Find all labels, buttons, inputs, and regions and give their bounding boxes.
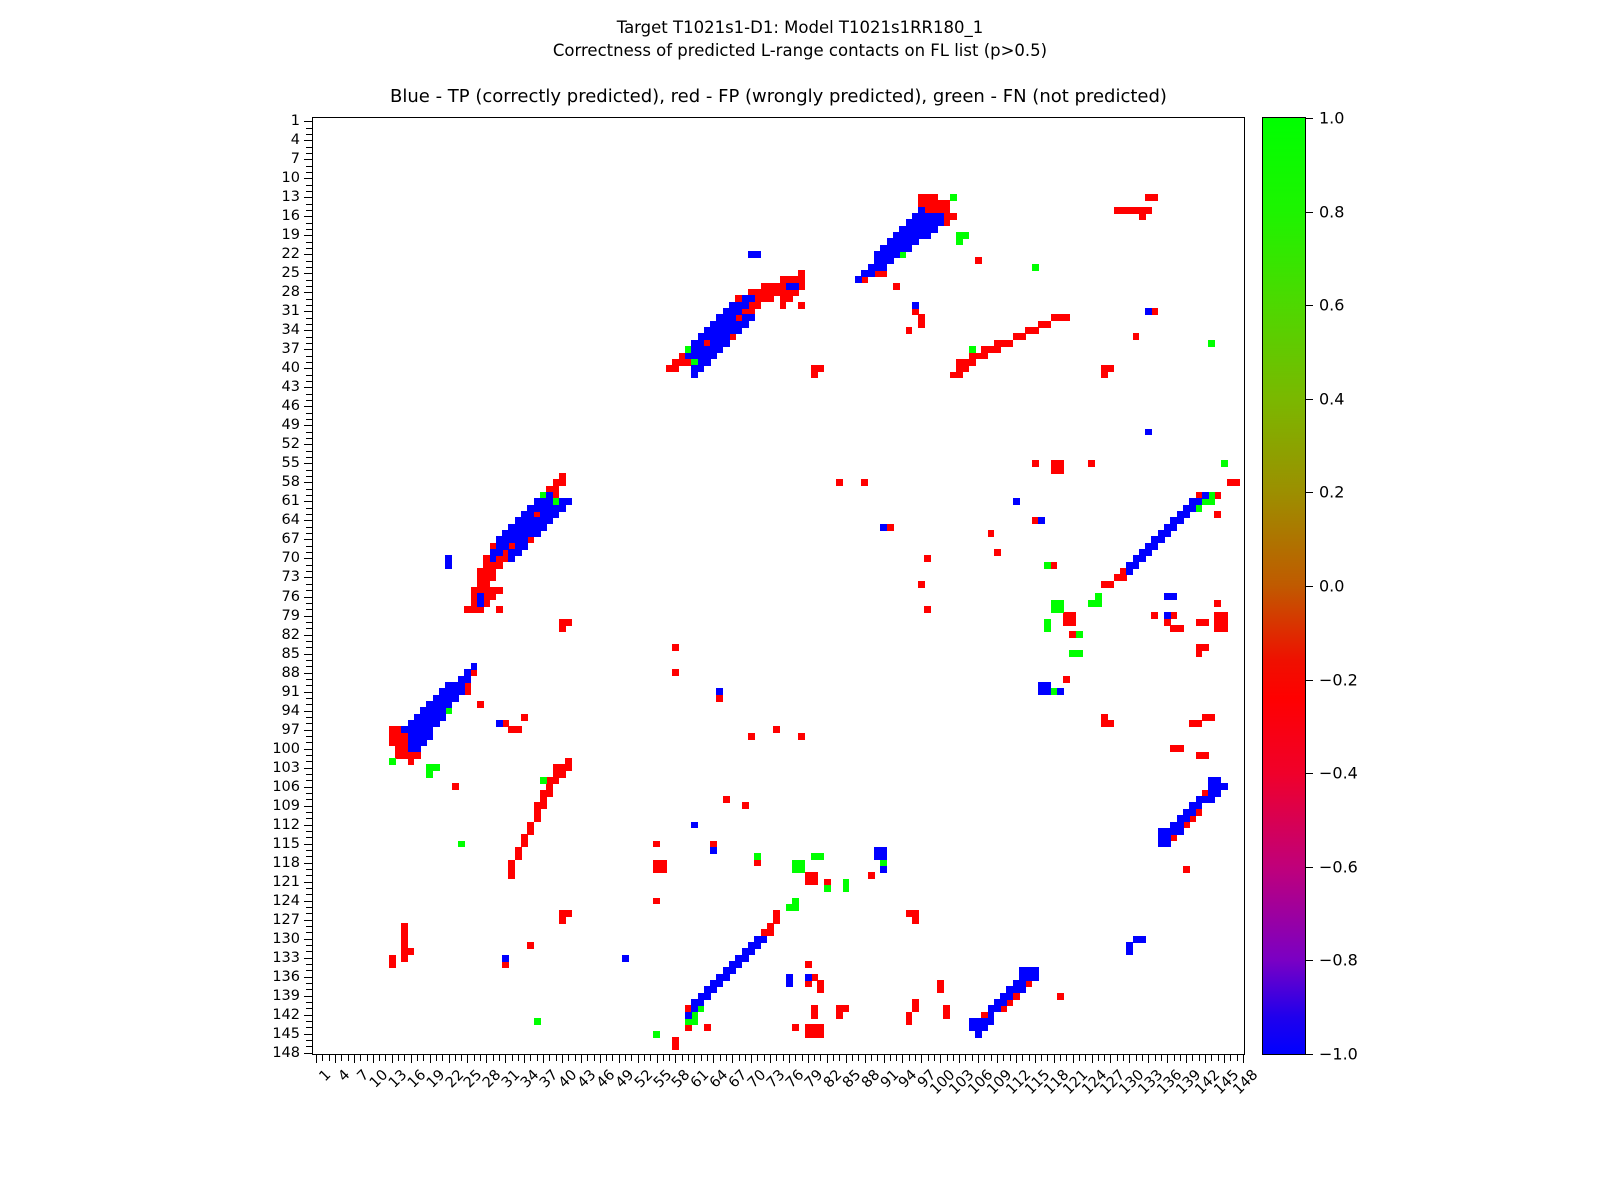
contact-cell-fp [1151,612,1158,619]
x-tick [329,1054,330,1061]
contact-cell-fn [792,904,799,911]
y-tick [306,799,313,800]
contact-cell-fn [445,707,452,714]
contact-cell-fp [559,625,566,632]
x-tick [997,1054,998,1063]
x-tick [606,1054,607,1061]
y-tick-label: 103 [272,760,300,776]
contact-cell-fp [408,948,415,955]
x-tick [1085,1054,1086,1061]
contact-cell-fp [672,1043,679,1050]
y-tick-label: 16 [282,208,300,224]
y-tick [306,1027,313,1028]
x-tick [720,1054,721,1061]
contact-cell-fp [817,365,824,372]
y-tick [306,381,313,382]
y-tick-label: 121 [272,874,300,890]
contact-cell-fp [880,270,887,277]
y-tick [306,248,313,249]
x-tick [449,1054,450,1063]
contact-cell-tp [1139,936,1146,943]
contact-cell-fp [508,872,515,879]
x-tick [1104,1054,1105,1061]
x-tick [947,1054,948,1061]
contact-cell-fp [1088,460,1095,467]
x-tick [543,1054,544,1063]
colorbar-tick-label: 0.4 [1319,389,1344,408]
y-tick [304,749,313,750]
y-tick-label: 148 [272,1045,300,1061]
contact-cell-fp [477,606,484,613]
y-tick [306,894,313,895]
contact-cell-tp [748,295,755,302]
contact-cell-tp [754,251,761,258]
contact-cell-fp [792,289,799,296]
y-tick [304,425,313,426]
contact-cell-fp [565,619,572,626]
contact-cell-fp [861,479,868,486]
contact-cell-tp [433,720,440,727]
contact-cell-tp [1170,828,1177,835]
contact-cell-fp [868,872,875,879]
contact-cell-fp [672,669,679,676]
contact-cell-tp [1189,809,1196,816]
contact-cell-fp [490,568,497,575]
contact-cell-tp [1126,568,1133,575]
y-tick [304,920,313,921]
y-tick [304,520,313,521]
x-tick [783,1054,784,1061]
contact-cell-fp [464,688,471,695]
y-tick [306,964,313,965]
x-tick [1237,1054,1238,1061]
contact-cell-tp [1196,498,1203,505]
y-tick [306,945,313,946]
y-tick [304,178,313,179]
contact-cell-tp [742,321,749,328]
contact-cell-fp [723,796,730,803]
x-tick [404,1054,405,1061]
y-tick [306,229,313,230]
x-tick [1192,1054,1193,1061]
contact-cell-fp [1214,600,1221,607]
contact-cell-fp [962,365,969,372]
contact-cell-tp [490,555,497,562]
x-tick [852,1054,853,1061]
y-tick [304,958,313,959]
contact-cell-fp [1019,333,1026,340]
y-tick-label: 70 [282,550,300,566]
contact-cell-fp [792,1024,799,1031]
y-tick [306,698,313,699]
contact-cell-fp [565,910,572,917]
contact-cell-tp [477,600,484,607]
y-tick-label: 67 [282,531,300,547]
colorbar-tick-label: −0.8 [1319,951,1358,970]
contact-cell-fp [389,961,396,968]
y-tick [306,451,313,452]
contact-cell-fp [1101,372,1108,379]
y-tick [306,970,313,971]
contact-cell-tp [1145,549,1152,556]
x-tick [556,1054,557,1061]
contact-cell-fp [1006,340,1013,347]
y-tick-label: 94 [282,703,300,719]
y-tick [304,711,313,712]
contact-cell-tp [426,733,433,740]
y-tick [304,996,313,997]
contact-cell-fp [502,961,509,968]
y-tick-label: 79 [282,608,300,624]
contact-cell-tp [1164,841,1171,848]
contact-cell-fn [1044,625,1051,632]
contact-cell-fp [836,1012,843,1019]
y-tick [304,501,313,502]
y-tick [304,463,313,464]
contact-cell-tp [880,866,887,873]
y-tick [306,1040,313,1041]
x-tick [341,1054,342,1061]
x-tick [890,1054,891,1061]
y-tick [306,888,313,889]
contact-cell-fp [943,1012,950,1019]
y-tick-label: 97 [282,722,300,738]
contact-cell-fn [1057,606,1064,613]
contact-cell-fp [773,917,780,924]
contact-cell-fp [811,372,818,379]
x-tick [1167,1054,1168,1063]
colorbar-tick [1305,305,1313,306]
y-tick [304,1034,313,1035]
y-tick-label: 46 [282,398,300,414]
x-tick [808,1054,809,1063]
x-tick [1123,1054,1124,1061]
contact-cell-tp [1202,796,1209,803]
contact-cell-tp [502,955,509,962]
x-tick [1186,1054,1187,1063]
contact-cell-tp [723,340,730,347]
contact-cell-fp [685,1024,692,1031]
y-tick [304,597,313,598]
contact-cell-fp [1139,213,1146,220]
contact-cell-fp [471,669,478,676]
x-tick [814,1054,815,1061]
x-tick [530,1054,531,1061]
contact-cell-fp [660,866,667,873]
contact-cell-fn [956,238,963,245]
contact-cell-tp [515,549,522,556]
contact-cell-fp [1214,492,1221,499]
y-tick [306,761,313,762]
contact-cell-tp [1170,593,1177,600]
contact-cell-fp [540,802,547,809]
contact-cell-fp [1183,822,1190,829]
y-tick [306,394,313,395]
contact-cell-tp [855,276,862,283]
x-tick [921,1054,922,1063]
contact-cell-tp [1019,980,1026,987]
contact-cell-fp [754,302,761,309]
x-tick [335,1054,336,1063]
contact-cell-fp [521,714,528,721]
colorbar-tick [1305,960,1313,961]
contact-cell-tp [540,524,547,531]
y-tick-label: 28 [282,284,300,300]
contact-cell-fn [754,853,761,860]
y-tick [304,692,313,693]
contact-cell-fp [1057,467,1064,474]
contact-cell-fp [729,333,736,340]
y-tick [306,343,313,344]
y-tick-label: 61 [282,493,300,509]
contact-cell-fn [534,1018,541,1025]
x-tick [423,1054,424,1061]
contact-cell-fp [1120,574,1127,581]
x-tick [928,1054,929,1061]
contact-cell-tp [1177,828,1184,835]
x-tick [902,1054,903,1063]
contact-cell-fp [565,764,572,771]
y-tick-label: 136 [272,969,300,985]
colorbar-tick-label: 0.2 [1319,483,1344,502]
y-tick [304,977,313,978]
contact-cell-tp [426,714,433,721]
x-tick [959,1054,960,1063]
y-tick-label: 76 [282,589,300,605]
y-tick-label: 19 [282,227,300,243]
x-tick [360,1054,361,1061]
contact-cell-tp [704,359,711,366]
y-tick [306,818,313,819]
y-tick [306,223,313,224]
contact-cell-tp [710,847,717,854]
x-tick [940,1054,941,1063]
x-tick [1079,1054,1080,1061]
contact-cell-tp [931,219,938,226]
y-tick [306,438,313,439]
contact-cell-tp [445,701,452,708]
colorbar-tick [1305,399,1313,400]
y-tick [306,647,313,648]
contact-cell-tp [1164,530,1171,537]
x-tick [833,1054,834,1061]
contact-map-plot[interactable]: 1471013161922252831343740434649525558616… [312,117,1245,1055]
contact-cell-tp [439,714,446,721]
y-tick [306,318,313,319]
y-tick [306,622,313,623]
contact-cell-fn [1208,340,1215,347]
x-tick [978,1054,979,1063]
y-tick [306,128,313,129]
y-tick [304,654,313,655]
contact-cell-fp [786,295,793,302]
x-tick [619,1054,620,1063]
contact-cell-fp [1044,321,1051,328]
y-tick [306,812,313,813]
contact-cell-fn [962,232,969,239]
y-tick-label: 133 [272,950,300,966]
y-tick [306,299,313,300]
contact-cell-tp [1208,796,1215,803]
colorbar-tick-label: 1.0 [1319,109,1344,128]
y-tick-label: 4 [291,132,300,148]
contact-cell-fn [1076,650,1083,657]
contact-cell-tp [906,245,913,252]
contact-cell-fp [559,917,566,924]
x-tick [770,1054,771,1063]
contact-cell-fp [893,283,900,290]
contact-cell-tp [414,745,421,752]
y-tick [306,793,313,794]
contact-cell-tp [445,562,452,569]
contact-cell-tp [546,517,553,524]
contact-cell-fp [1151,308,1158,315]
contact-cell-tp [464,676,471,683]
contact-cell-fp [527,942,534,949]
contact-cell-tp [1139,555,1146,562]
y-tick [306,1008,313,1009]
contact-cell-tp [521,543,528,550]
contact-cell-tp [748,948,755,955]
contact-cell-fp [912,917,919,924]
contact-cell-fp [483,600,490,607]
y-tick [304,273,313,274]
contact-cell-fp [1202,752,1209,759]
contact-cell-fp [515,853,522,860]
contact-cell-fp [956,372,963,379]
y-tick-label: 124 [272,893,300,909]
y-tick [306,679,313,680]
y-tick [304,730,313,731]
y-tick [306,400,313,401]
colorbar-tick-label: 0.6 [1319,296,1344,315]
colorbar-tick [1305,212,1313,213]
y-tick [306,261,313,262]
contact-cell-fp [408,758,415,765]
x-tick [896,1054,897,1061]
y-tick-label: 55 [282,455,300,471]
contact-cell-fp [1145,207,1152,214]
y-tick [306,584,313,585]
contact-cell-tp [433,707,440,714]
contact-cell-fp [843,1005,850,1012]
x-tick [953,1054,954,1061]
contact-cell-tp [445,695,452,702]
contact-cell-fp [1107,581,1114,588]
y-tick [306,546,313,547]
x-tick [1218,1054,1219,1061]
contact-cell-fp [1069,619,1076,626]
x-tick [348,1054,349,1061]
contact-cell-fn [389,758,396,765]
x-tick [694,1054,695,1063]
contact-cell-fp [1208,714,1215,721]
contact-cell-tp [735,961,742,968]
x-tick [398,1054,399,1061]
contact-cell-tp [931,226,938,233]
x-tick [631,1054,632,1061]
x-tick [972,1054,973,1061]
y-tick-label: 25 [282,265,300,281]
y-tick-label: 49 [282,417,300,433]
contact-cell-tp [496,549,503,556]
y-tick [306,704,313,705]
x-tick [385,1054,386,1061]
contact-cell-tp [1170,524,1177,531]
x-tick [486,1054,487,1063]
colorbar-tick [1305,680,1313,681]
y-tick-label: 145 [272,1026,300,1042]
contact-cell-fp [534,815,541,822]
y-tick [306,508,313,509]
contact-cell-fp [761,295,768,302]
contact-cell-tp [710,986,717,993]
contact-cell-fp [653,898,660,905]
x-tick [802,1054,803,1061]
y-tick [306,533,313,534]
x-tick [827,1054,828,1063]
y-tick [304,368,313,369]
y-tick [306,1021,313,1022]
x-tick [505,1054,506,1063]
y-tick-label: 40 [282,360,300,376]
y-tick-label: 115 [272,836,300,852]
x-tick [379,1054,380,1061]
contact-cell-tp [420,739,427,746]
y-tick [306,413,313,414]
contact-cell-fp [924,606,931,613]
y-tick [306,495,313,496]
y-tick [304,825,313,826]
x-tick [820,1054,821,1061]
contact-cell-tp [1183,511,1190,518]
contact-cell-fp [1196,650,1203,657]
x-tick [1060,1054,1061,1061]
y-tick-label: 13 [282,189,300,205]
colorbar-tick-label: −0.6 [1319,857,1358,876]
contact-cell-fp [559,771,566,778]
x-tick [1054,1054,1055,1063]
contact-cell-fp [477,701,484,708]
y-tick [304,254,313,255]
x-tick [442,1054,443,1061]
contact-cell-tp [912,238,919,245]
x-tick [991,1054,992,1061]
y-tick-label: 139 [272,988,300,1004]
x-tick [612,1054,613,1061]
y-tick [304,311,313,312]
x-tick [1129,1054,1130,1063]
contact-cell-fp [1051,562,1058,569]
y-tick [304,292,313,293]
x-tick [568,1054,569,1061]
x-tick [1117,1054,1118,1061]
y-tick [304,558,313,559]
y-tick-label: 127 [272,912,300,928]
y-tick [306,552,313,553]
y-tick-label: 109 [272,798,300,814]
contact-cell-tp [868,270,875,277]
contact-cell-tp [452,695,459,702]
x-tick [1174,1054,1175,1061]
contact-cell-fp [906,1018,913,1025]
y-tick-label: 88 [282,665,300,681]
x-tick [865,1054,866,1063]
contact-cell-fn [540,777,547,784]
x-tick [594,1054,595,1061]
contact-cell-tp [742,955,749,962]
contact-cell-fn [1208,498,1215,505]
